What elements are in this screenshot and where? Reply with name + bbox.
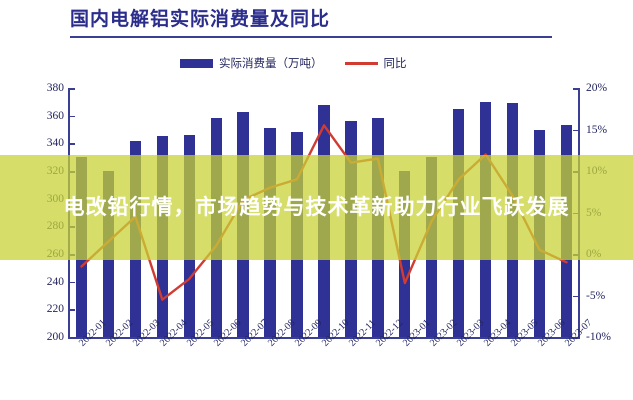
page-title: 国内电解铝实际消费量及同比 <box>70 6 570 32</box>
y-tick-label-right: -5% <box>586 290 605 302</box>
title-underline <box>70 36 552 38</box>
y-tick-label-left: 240 <box>47 276 64 288</box>
legend-item-consumption: 实际消费量（万吨） <box>180 55 323 71</box>
x-axis-labels: 2022-012022-022022-032022-042022-052022-… <box>68 341 580 399</box>
title-block: 国内电解铝实际消费量及同比 <box>70 6 570 42</box>
y-tick-label-right: -10% <box>586 331 611 343</box>
overlay-caption: 电改铅行情，市场趋势与技术革新助力行业飞跃发展 <box>0 155 633 260</box>
y-tick-label-left: 200 <box>47 331 64 343</box>
legend-label-consumption: 实际消费量（万吨） <box>219 55 323 71</box>
y-tick-label-left: 340 <box>47 137 64 149</box>
line-swatch-icon <box>345 62 378 65</box>
legend-item-yoy: 同比 <box>345 55 407 71</box>
y-tick-label-right: 15% <box>586 124 607 136</box>
y-tick-label-left: 220 <box>47 303 64 315</box>
y-tick-label-left: 360 <box>47 110 64 122</box>
chart-legend: 实际消费量（万吨） 同比 <box>180 55 407 71</box>
bar-swatch-icon <box>180 59 213 68</box>
y-tick-label-right: 20% <box>586 82 607 94</box>
chart-page: 国内电解铝实际消费量及同比 实际消费量（万吨） 同比 3803603403203… <box>0 0 633 400</box>
legend-label-yoy: 同比 <box>384 55 407 71</box>
y-tick-label-left: 380 <box>47 82 64 94</box>
